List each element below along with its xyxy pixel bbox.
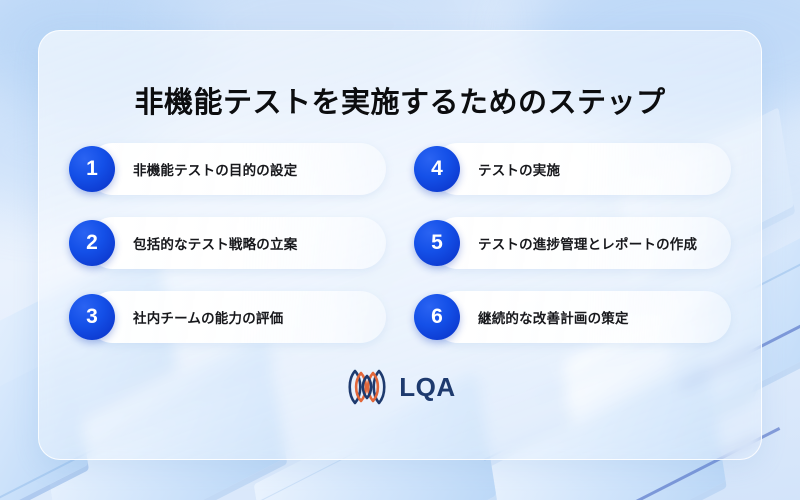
step-item[interactable]: 6 継続的な改善計画の策定 [414, 291, 733, 343]
step-label: 非機能テストの目的の設定 [133, 159, 297, 179]
step-pill [432, 143, 731, 195]
content-card: 非機能テストを実施するためのステップ 1 非機能テストの目的の設定 4 テストの… [38, 30, 762, 460]
step-number-badge: 1 [69, 146, 115, 192]
step-item[interactable]: 2 包括的なテスト戦略の立案 [69, 217, 388, 269]
page-title: 非機能テストを実施するためのステップ [39, 79, 761, 121]
step-label: 継続的な改善計画の策定 [478, 307, 629, 327]
step-label: テストの実施 [478, 159, 560, 179]
step-item[interactable]: 5 テストの進捗管理とレポートの作成 [414, 217, 733, 269]
step-label: 社内チームの能力の評価 [133, 307, 283, 327]
brand-logo: LQA [39, 369, 761, 405]
step-item[interactable]: 1 非機能テストの目的の設定 [69, 143, 388, 195]
step-number-badge: 2 [69, 220, 115, 266]
step-item[interactable]: 3 社内チームの能力の評価 [69, 291, 388, 343]
logo-wordmark: LQA [399, 374, 455, 400]
steps-grid: 1 非機能テストの目的の設定 4 テストの実施 2 包括的なテスト戦略の立案 5… [69, 143, 733, 343]
step-number-badge: 3 [69, 294, 115, 340]
step-label: テストの進捗管理とレポートの作成 [478, 233, 697, 253]
slide-canvas: 非機能テストを実施するためのステップ 1 非機能テストの目的の設定 4 テストの… [0, 0, 800, 500]
step-number-badge: 6 [414, 294, 460, 340]
lqa-leaf-mark-icon [344, 369, 390, 405]
step-number-badge: 4 [414, 146, 460, 192]
step-number-badge: 5 [414, 220, 460, 266]
step-label: 包括的なテスト戦略の立案 [133, 233, 297, 253]
step-item[interactable]: 4 テストの実施 [414, 143, 733, 195]
